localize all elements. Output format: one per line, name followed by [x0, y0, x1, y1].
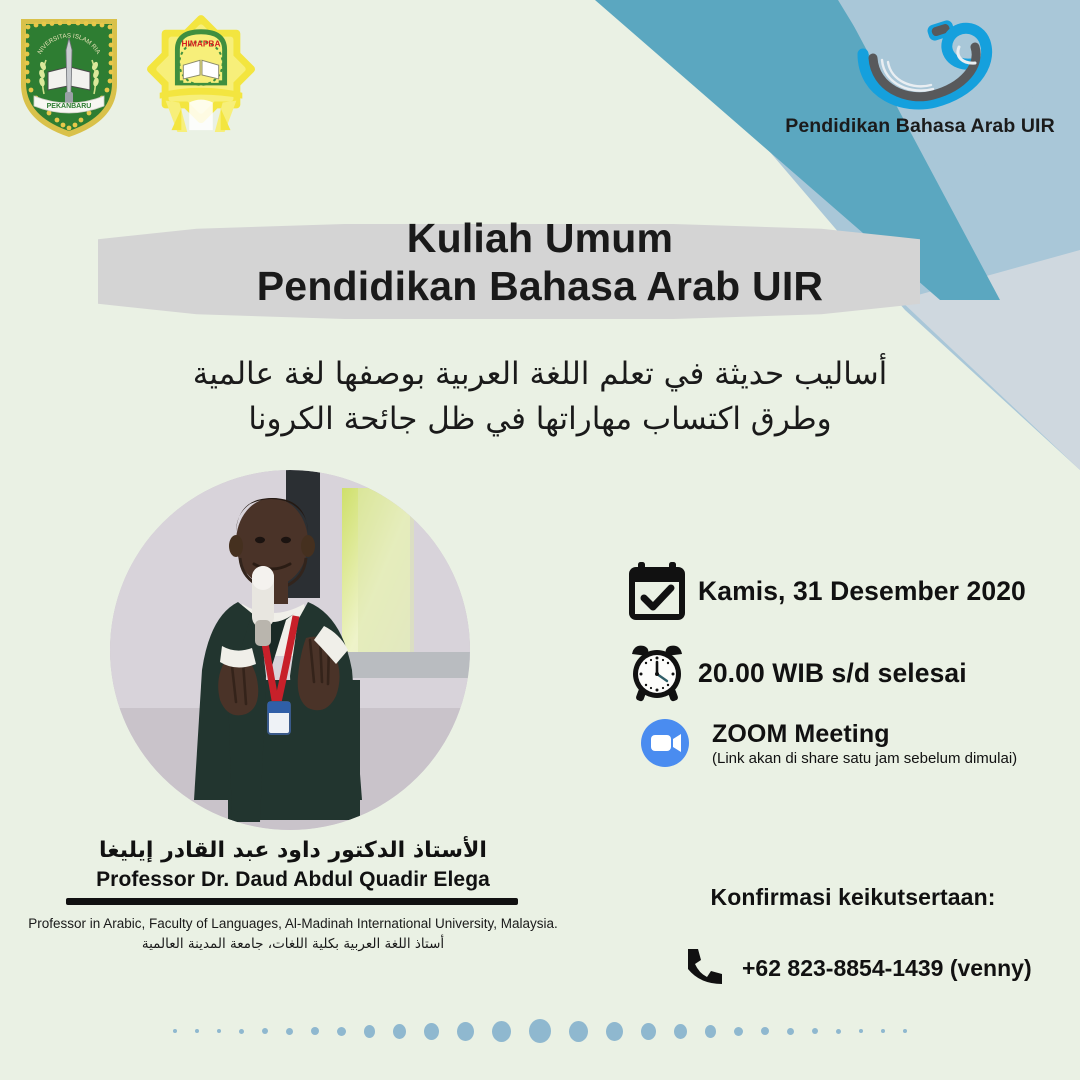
event-platform: ZOOM Meeting — [712, 720, 1076, 749]
footer-dot — [761, 1027, 769, 1035]
speaker-name-arabic: الأستاذ الدكتور داود عبد القادر إيليغا — [0, 838, 586, 863]
logo-row: UNIVERSITAS ISLAM RIAU — [14, 14, 260, 139]
footer-dot — [217, 1029, 221, 1033]
himapba-star-logo: HIMAPBA — [142, 14, 260, 136]
confirmation-phone[interactable]: +62 823-8854-1439 (venny) — [742, 955, 1032, 982]
footer-dot — [529, 1019, 551, 1043]
phone-icon-wrap — [680, 943, 742, 994]
confirmation-contact-row[interactable]: +62 823-8854-1439 (venny) — [626, 943, 1080, 994]
footer-dot — [286, 1028, 293, 1035]
footer-dot — [734, 1027, 743, 1036]
footer-dot — [881, 1029, 885, 1033]
speaker-affiliation-english: Professor in Arabic, Faculty of Language… — [0, 916, 586, 931]
footer-dot — [606, 1022, 623, 1041]
footer-dot — [492, 1021, 511, 1042]
event-date: Kamis, 31 Desember 2020 — [698, 576, 1076, 607]
subtitle-arabic-line-1: أساليب حديثة في تعلم اللغة العربية بوصفه… — [0, 352, 1080, 397]
detail-row-date: Kamis, 31 Desember 2020 — [626, 560, 1076, 622]
uir-shield-logo: UNIVERSITAS ISLAM RIAU — [14, 14, 124, 139]
event-details: Kamis, 31 Desember 2020 — [626, 560, 1076, 790]
speaker-affiliation-arabic: أستاذ اللغة العربية بكلية اللغات، جامعة … — [0, 936, 586, 952]
footer-dot — [859, 1029, 863, 1033]
phone-icon — [680, 943, 726, 989]
speaker-photo — [110, 470, 470, 830]
footer-dot — [641, 1023, 656, 1040]
brand-block: Pendidikan Bahasa Arab UIR — [770, 14, 1070, 138]
detail-row-time: 20.00 WIB s/d selesai — [626, 642, 1076, 704]
footer-dot — [787, 1028, 794, 1035]
zoom-video-icon-wrap — [626, 718, 712, 768]
zoom-video-icon — [640, 718, 690, 768]
detail-row-platform: ZOOM Meeting (Link akan di share satu ja… — [626, 718, 1076, 768]
page-title: Kuliah Umum Pendidikan Bahasa Arab UIR — [0, 214, 1080, 311]
footer-dot — [364, 1025, 375, 1038]
calendar-check-icon-wrap — [626, 560, 698, 622]
detail-body-date: Kamis, 31 Desember 2020 — [698, 576, 1076, 607]
brand-label: Pendidikan Bahasa Arab UIR — [770, 115, 1070, 138]
footer-dot — [173, 1029, 177, 1033]
footer-dot — [903, 1029, 907, 1033]
footer-dot — [311, 1027, 319, 1035]
subtitle-arabic-line-2: وطرق اكتساب مهاراتها في ظل جائحة الكرونا — [0, 397, 1080, 442]
footer-dot — [337, 1027, 346, 1036]
footer-dot-decoration — [0, 1008, 1080, 1054]
footer-dot — [195, 1029, 199, 1033]
footer-dot — [836, 1029, 841, 1034]
confirmation-block: Konfirmasi keikutsertaan: +62 823-8854-1… — [626, 884, 1080, 994]
speaker-photo-illustration — [110, 470, 470, 830]
event-time: 20.00 WIB s/d selesai — [698, 658, 1076, 689]
footer-dot — [424, 1023, 439, 1040]
detail-body-time: 20.00 WIB s/d selesai — [698, 658, 1076, 689]
detail-body-platform: ZOOM Meeting (Link akan di share satu ja… — [712, 720, 1076, 767]
alarm-clock-icon-wrap — [626, 642, 698, 704]
event-platform-note: (Link akan di share satu jam sebelum dim… — [712, 750, 1076, 767]
calendar-check-icon — [626, 560, 688, 622]
footer-dot — [705, 1025, 716, 1038]
alarm-clock-icon — [626, 642, 688, 704]
title-line-2: Pendidikan Bahasa Arab UIR — [0, 262, 1080, 310]
footer-dot — [812, 1028, 818, 1034]
title-line-1: Kuliah Umum — [0, 214, 1080, 262]
svg-text:PEKANBARU: PEKANBARU — [47, 103, 92, 110]
confirmation-title: Konfirmasi keikutsertaan: — [626, 884, 1080, 911]
footer-dot — [393, 1024, 406, 1039]
svg-text:HIMAPBA: HIMAPBA — [182, 38, 221, 48]
footer-dot — [457, 1022, 474, 1041]
poster-root: UNIVERSITAS ISLAM RIAU — [0, 0, 1080, 1080]
subtitle-arabic: أساليب حديثة في تعلم اللغة العربية بوصفه… — [0, 352, 1080, 442]
speaker-divider — [66, 898, 518, 905]
arabic-letter-nun-logo — [825, 14, 1015, 112]
footer-dot — [569, 1021, 588, 1042]
footer-dot — [239, 1029, 244, 1034]
footer-dot — [262, 1028, 268, 1034]
footer-dot — [674, 1024, 687, 1039]
speaker-name-english: Professor Dr. Daud Abdul Quadir Elega — [0, 868, 586, 892]
